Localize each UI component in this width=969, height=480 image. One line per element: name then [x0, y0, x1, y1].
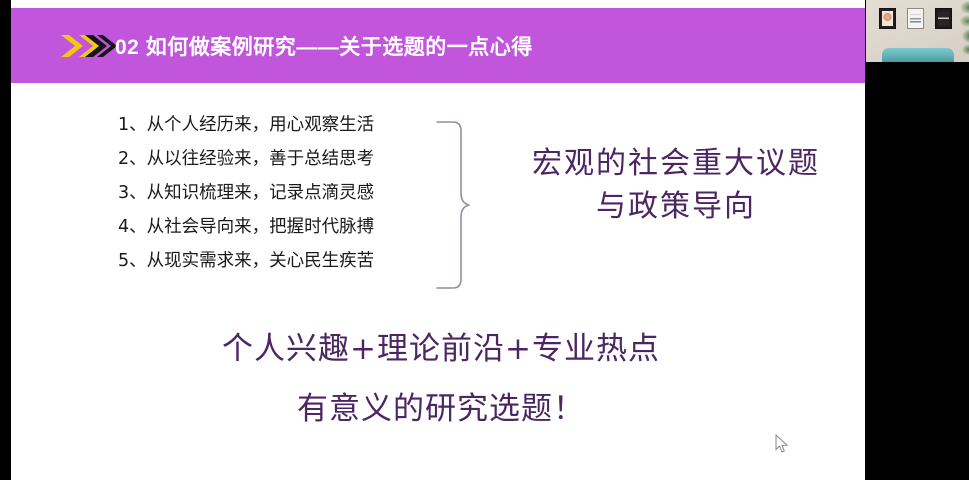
list-item: 1、从个人经历来，用心观察生活: [118, 108, 428, 142]
list-item: 3、从知识梳理来，记录点滴灵感: [118, 176, 428, 210]
callout-line-2: 与政策导向: [501, 185, 851, 228]
callout-line-1: 宏观的社会重大议题: [501, 142, 851, 185]
framed-picture-icon-1: [879, 8, 896, 29]
numbered-list: 1、从个人经历来，用心观察生活 2、从以往经验来，善于总结思考 3、从知识梳理来…: [118, 108, 428, 278]
slide-header-band: 02 如何做案例研究——关于选题的一点心得: [11, 8, 865, 83]
list-item: 4、从社会导向来，把握时代脉搏: [118, 210, 428, 244]
conclusion-line-2: 有意义的研究选题！: [71, 385, 811, 433]
curly-brace-right-icon: [435, 120, 475, 290]
sofa-shape: [882, 48, 954, 62]
list-item: 2、从以往经验来，善于总结思考: [118, 142, 428, 176]
screen-share-viewport: 02 如何做案例研究——关于选题的一点心得 1、从个人经历来，用心观察生活 2、…: [0, 0, 969, 480]
slide-header-inner: 02 如何做案例研究——关于选题的一点心得: [11, 8, 865, 83]
conclusion-text: 个人兴趣+理论前沿+专业热点 有意义的研究选题！: [71, 325, 811, 433]
conclusion-line-1: 个人兴趣+理论前沿+专业热点: [71, 325, 811, 373]
webcam-video-thumbnail[interactable]: [866, 0, 969, 62]
callout-text: 宏观的社会重大议题 与政策导向: [501, 142, 851, 228]
list-item: 5、从现实需求来，关心民生疾苦: [118, 244, 428, 278]
slide-title: 02 如何做案例研究——关于选题的一点心得: [115, 31, 533, 61]
framed-picture-art-2: [910, 12, 921, 25]
framed-picture-art-1: [882, 11, 893, 26]
double-chevron-right-icon: [59, 33, 117, 59]
framed-picture-icon-2: [907, 8, 924, 29]
presentation-slide: 02 如何做案例研究——关于选题的一点心得 1、从个人经历来，用心观察生活 2、…: [11, 0, 865, 480]
mouse-arrow-cursor: [775, 434, 789, 454]
